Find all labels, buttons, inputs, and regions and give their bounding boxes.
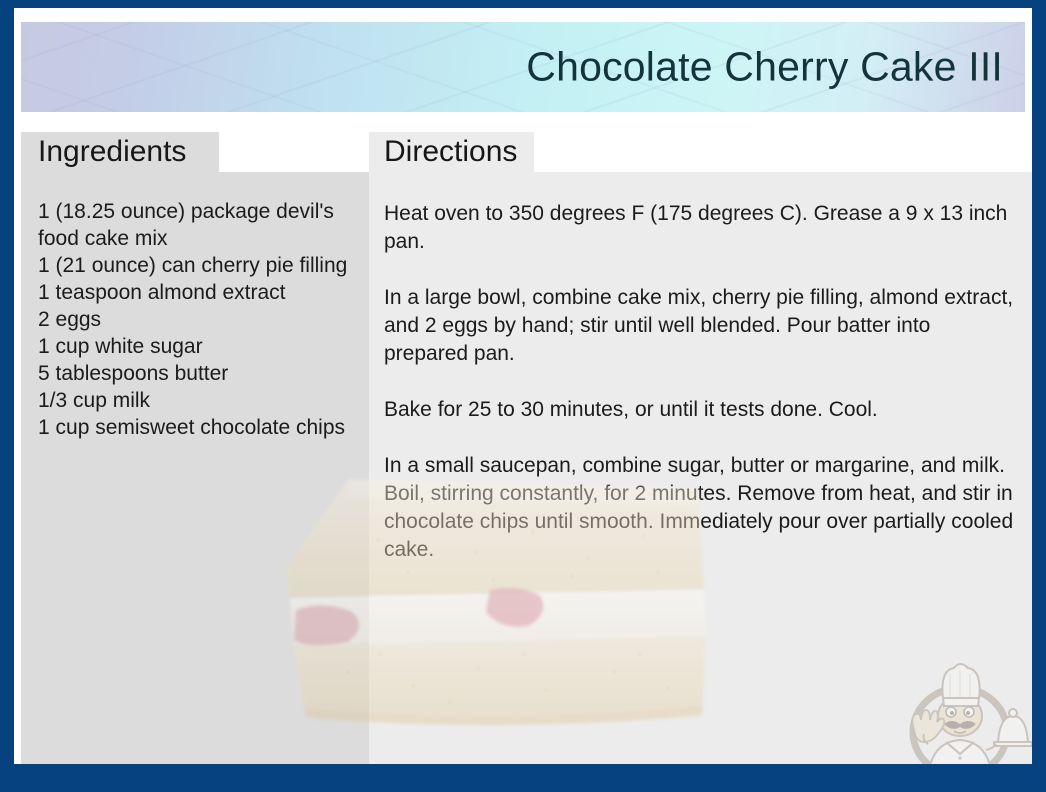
recipe-sheet: Chocolate Cherry Cake III 1 (18.25 ounce… xyxy=(14,8,1032,764)
list-item: 1 teaspoon almond extract xyxy=(38,279,355,306)
directions-list: Heat oven to 350 degrees F (175 degrees … xyxy=(384,200,1016,564)
direction-step: Heat oven to 350 degrees F (175 degrees … xyxy=(384,200,1016,256)
list-item: 1 cup white sugar xyxy=(38,333,355,360)
list-item: 1 (21 ounce) can cherry pie filling xyxy=(38,252,355,279)
directions-panel: Heat oven to 350 degrees F (175 degrees … xyxy=(369,172,1032,764)
list-item: 2 eggs xyxy=(38,306,355,333)
list-item: 5 tablespoons butter xyxy=(38,360,355,387)
ingredients-list: 1 (18.25 ounce) package devil's food cak… xyxy=(38,198,355,441)
ingredients-panel: 1 (18.25 ounce) package devil's food cak… xyxy=(21,172,369,764)
tab-ingredients[interactable]: Ingredients xyxy=(21,132,219,172)
tab-ingredients-label: Ingredients xyxy=(38,137,186,167)
list-item: 1 cup semisweet chocolate chips xyxy=(38,414,355,441)
direction-step: In a large bowl, combine cake mix, cherr… xyxy=(384,284,1016,368)
tab-directions-label: Directions xyxy=(384,137,517,167)
recipe-card: Chocolate Cherry Cake III 1 (18.25 ounce… xyxy=(0,0,1046,792)
page-title: Chocolate Cherry Cake III xyxy=(526,44,1003,91)
tab-directions[interactable]: Directions xyxy=(369,132,534,172)
direction-step: In a small saucepan, combine sugar, butt… xyxy=(384,452,1016,564)
list-item: 1/3 cup milk xyxy=(38,387,355,414)
list-item: food cake mix xyxy=(38,225,355,252)
header-banner: Chocolate Cherry Cake III xyxy=(21,22,1025,112)
direction-step: Bake for 25 to 30 minutes, or until it t… xyxy=(384,396,1016,424)
list-item: 1 (18.25 ounce) package devil's xyxy=(38,198,355,225)
